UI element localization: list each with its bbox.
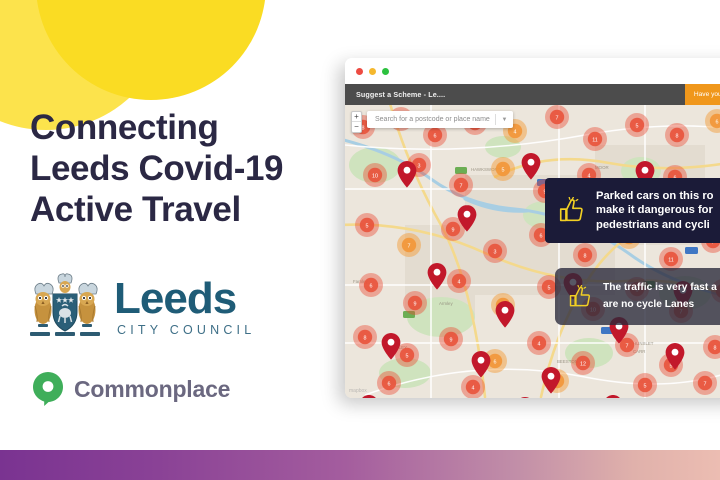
commonplace-pin-icon [33, 372, 63, 406]
map-canvas[interactable]: HAWKSWORTH Leeds Farnley BURLEY MOOR FAR… [345, 105, 720, 398]
headline-line-2: Leeds Covid-19 [30, 149, 330, 190]
map-cluster-marker[interactable]: 7 [397, 233, 421, 257]
minimize-icon[interactable] [369, 68, 376, 75]
cluster-count: 9 [450, 337, 453, 343]
leeds-crest-icon [26, 272, 104, 344]
map-cluster-marker[interactable]: 7 [449, 173, 473, 197]
cluster-count: 8 [676, 133, 679, 139]
search-placeholder: Search for a postcode or place name [367, 116, 495, 123]
cluster-count: 11 [668, 257, 674, 263]
callout-parked-cars-text: Parked cars on this ro make it dangerous… [596, 189, 714, 232]
callout-line: Parked cars on this ro [596, 189, 714, 203]
map-cluster-marker[interactable]: 6 [359, 273, 383, 297]
cluster-count: 9 [452, 227, 455, 233]
cluster-count: 9 [414, 301, 417, 307]
cluster-count: 7 [408, 243, 411, 249]
cluster-count: 6 [540, 233, 543, 239]
map-cluster-marker[interactable]: 10 [363, 163, 387, 187]
headline-line-3: Active Travel [30, 190, 330, 231]
map-cluster-marker[interactable]: 9 [439, 327, 463, 351]
cluster-count: 7 [626, 343, 629, 349]
cluster-count: 10 [372, 173, 378, 179]
cluster-count: 4 [458, 279, 461, 285]
callout-line: pedestrians and cycli [596, 218, 714, 232]
map-pin-marker[interactable] [516, 397, 535, 398]
map-pin-marker[interactable] [472, 351, 491, 378]
cluster-count: 5 [644, 383, 647, 389]
cluster-count: 3 [494, 249, 497, 255]
cluster-count: 3 [418, 163, 421, 169]
zoom-in-button[interactable]: + [352, 112, 361, 122]
cluster-count: 11 [592, 137, 598, 143]
map-pin-marker[interactable] [604, 395, 623, 398]
map-cluster-marker[interactable]: 9 [403, 291, 427, 315]
cluster-count: 5 [502, 167, 505, 173]
map-cluster-marker[interactable]: 3 [483, 239, 507, 263]
bottom-gradient-bar [0, 450, 720, 480]
map-cluster-marker[interactable]: 6 [377, 371, 401, 395]
map-pin-marker[interactable] [428, 263, 447, 290]
cluster-count: 5 [548, 285, 551, 291]
map-cluster-marker[interactable]: 7 [693, 371, 717, 395]
cluster-count: 4 [472, 385, 475, 391]
commonplace-logo: Commonplace [33, 372, 230, 406]
cluster-count: 5 [406, 353, 409, 359]
map-pin-marker[interactable] [360, 395, 379, 398]
commonplace-wordmark: Commonplace [74, 376, 230, 403]
callout-traffic-speed: The traffic is very fast a are no cycle … [555, 268, 720, 325]
cluster-count: 4 [538, 341, 541, 347]
zoom-out-button[interactable]: − [352, 122, 361, 132]
leeds-city-council-logo: Leeds CITY COUNCIL [26, 272, 255, 344]
app-title: Suggest a Scheme - Le.... [345, 90, 445, 99]
close-icon[interactable] [356, 68, 363, 75]
map-cluster-marker[interactable]: 5 [633, 373, 657, 397]
callout-parked-cars: Parked cars on this ro make it dangerous… [545, 178, 720, 243]
cluster-count: 5 [366, 223, 369, 229]
callout-traffic-speed-text: The traffic is very fast a are no cycle … [603, 279, 717, 314]
map-cluster-marker[interactable]: 4 [447, 269, 471, 293]
leeds-wordmark: Leeds CITY COUNCIL [114, 279, 255, 336]
headline-line-1: Connecting [30, 108, 330, 149]
page-title: Connecting Leeds Covid-19 Active Travel [30, 108, 330, 231]
left-content-column: Connecting Leeds Covid-19 Active Travel [30, 108, 330, 231]
callout-line: The traffic is very fast a [603, 279, 717, 296]
map-cluster-marker[interactable]: 5 [491, 157, 515, 181]
leeds-logo-name: Leeds [114, 279, 255, 319]
map-cluster-marker[interactable]: 4 [527, 331, 551, 355]
cluster-count: 7 [460, 183, 463, 189]
cluster-count: 8 [364, 335, 367, 341]
map-cluster-marker[interactable]: 5 [355, 213, 379, 237]
cluster-markers[interactable]: 8126947115861037594861257936841176948510… [351, 105, 720, 398]
callout-line: make it dangerous for [596, 203, 714, 217]
cluster-count: 6 [370, 283, 373, 289]
map-cluster-marker[interactable]: 8 [353, 325, 377, 349]
cluster-count: 6 [494, 359, 497, 365]
cluster-count: 12 [580, 361, 586, 367]
map-pin-marker[interactable] [522, 153, 541, 180]
callout-line: are no cycle Lanes [603, 296, 717, 313]
window-titlebar [345, 58, 720, 84]
map-pin-marker[interactable] [496, 301, 515, 328]
thumbs-up-icon [569, 285, 592, 308]
map-cluster-marker[interactable]: 8 [573, 243, 597, 267]
mapbox-logo: mapbox [349, 388, 367, 394]
search-input[interactable]: Search for a postcode or place name ▼ [367, 111, 513, 128]
cluster-count: 6 [388, 381, 391, 387]
chevron-down-icon[interactable]: ▼ [496, 117, 513, 123]
have-your-say-button[interactable]: Have your say [685, 84, 720, 105]
map-markers-layer[interactable]: 8126947115861037594861257936841176948510… [345, 105, 720, 398]
app-header-bar: Suggest a Scheme - Le.... Have your say [345, 84, 720, 105]
yellow-circle-bright [36, 0, 266, 100]
leeds-logo-subtitle: CITY COUNCIL [117, 323, 255, 337]
zoom-controls[interactable]: + − [351, 111, 362, 133]
maximize-icon[interactable] [382, 68, 389, 75]
cluster-count: 6 [434, 133, 437, 139]
map-controls[interactable]: + − Search for a postcode or place name … [351, 111, 720, 133]
map-pin-marker[interactable] [398, 161, 417, 188]
cluster-count: 8 [714, 345, 717, 351]
map-cluster-marker[interactable]: 8 [703, 335, 720, 359]
cluster-count: 7 [704, 381, 707, 387]
browser-window: Suggest a Scheme - Le.... Have your say [345, 58, 720, 398]
map-cluster-marker[interactable]: 4 [461, 375, 485, 398]
map-cluster-marker[interactable]: 12 [571, 351, 595, 375]
cluster-count: 8 [584, 253, 587, 259]
thumbs-up-icon [559, 197, 585, 223]
